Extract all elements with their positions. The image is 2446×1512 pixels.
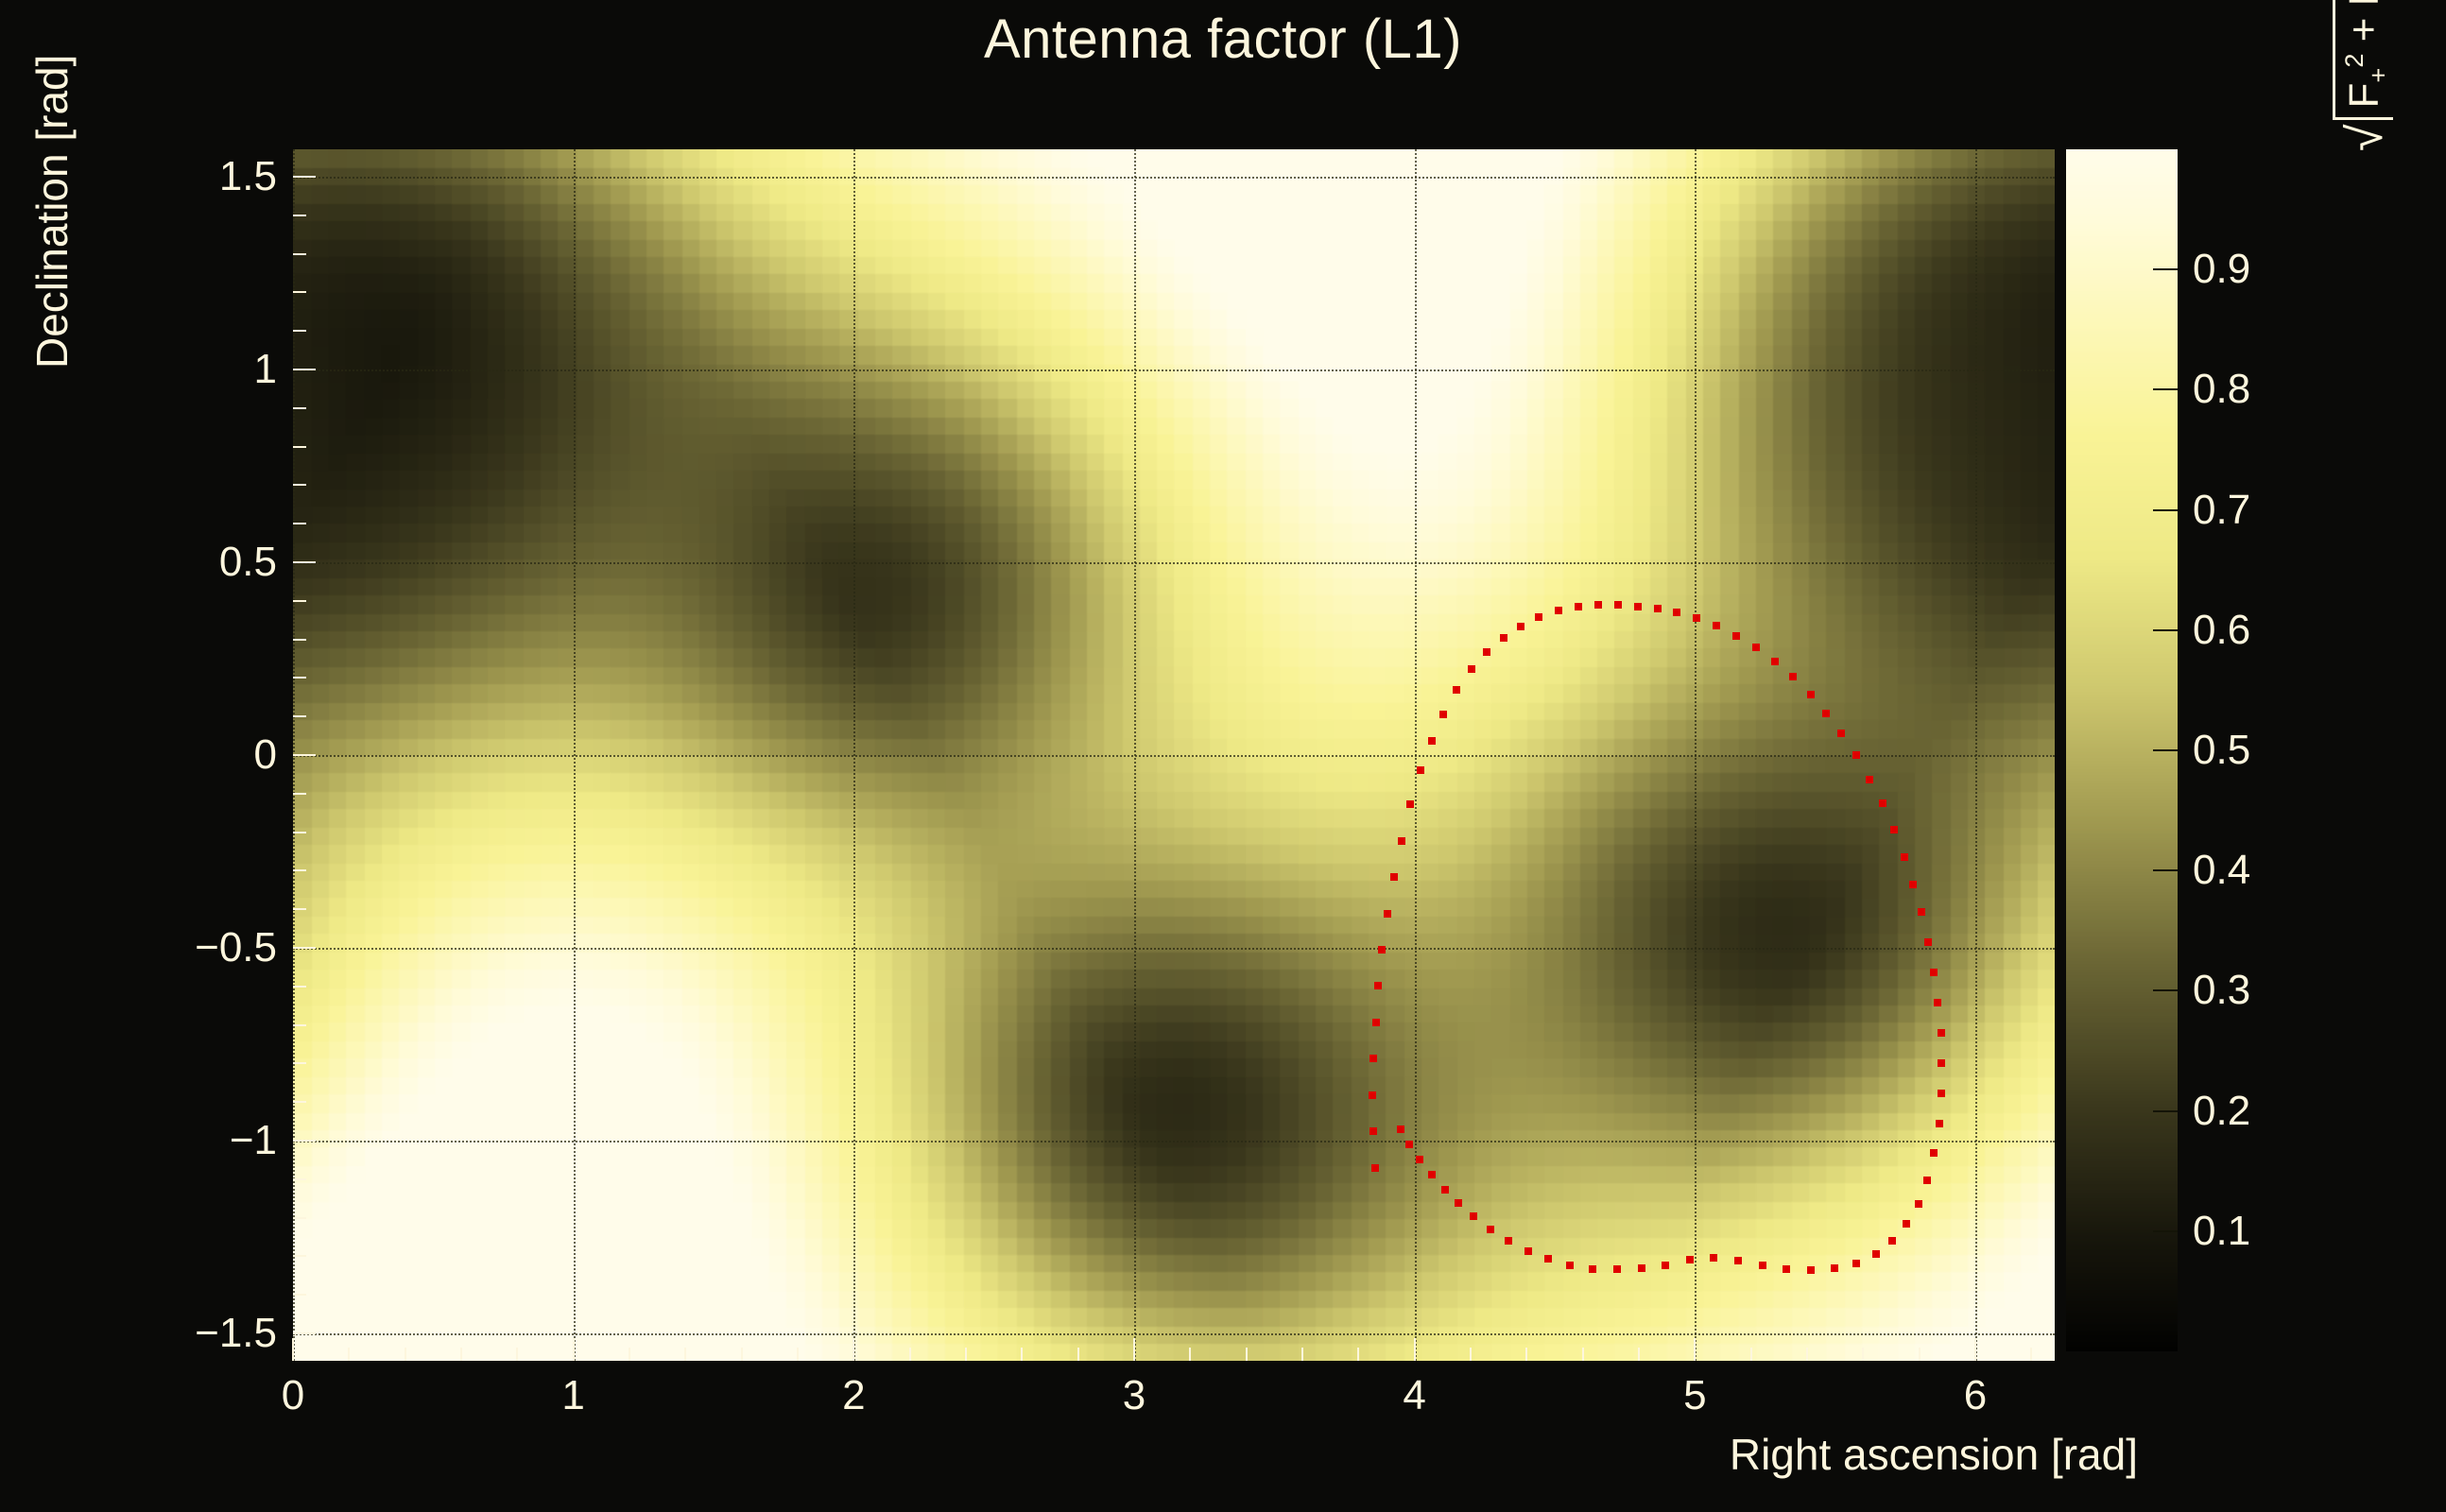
x-axis-minor-tick <box>1077 1348 1079 1361</box>
colorbar-tick <box>2153 268 2178 270</box>
x-axis-minor-tick <box>1470 1348 1472 1361</box>
colorbar-tick <box>2153 509 2178 511</box>
y-axis-minor-tick <box>293 600 306 602</box>
x-axis-tick <box>292 1338 294 1361</box>
x-axis-title: Right ascension [rad] <box>1730 1429 2138 1480</box>
y-axis-minor-tick <box>293 407 306 409</box>
colorbar-tick-label: 0.1 <box>2193 1208 2250 1255</box>
x-axis-minor-tick <box>405 1348 406 1361</box>
x-axis-tick-label: 5 <box>1683 1372 1706 1419</box>
y-axis-minor-tick <box>293 215 306 216</box>
colorbar-title: √F+2 + F×2 <box>2333 151 2389 586</box>
x-axis-minor-tick <box>1525 1348 1527 1361</box>
x-axis-minor-tick <box>348 1348 350 1361</box>
colorbar-tick-label: 0.8 <box>2193 366 2250 413</box>
x-axis-tick-label: 2 <box>842 1372 865 1419</box>
y-axis-minor-tick <box>293 793 306 795</box>
x-axis-tick <box>1133 1338 1135 1361</box>
y-axis-tick <box>293 561 316 563</box>
colorbar-tick <box>2153 989 2178 991</box>
colorbar-tick <box>2153 749 2178 751</box>
colorbar-tick <box>2153 629 2178 631</box>
x-axis-minor-tick <box>1301 1348 1303 1361</box>
x-axis-minor-tick <box>1189 1348 1191 1361</box>
x-axis-minor-tick <box>516 1348 518 1361</box>
x-axis-minor-tick <box>460 1348 462 1361</box>
y-axis-tick-label: 1.5 <box>219 153 277 200</box>
x-axis-minor-tick <box>909 1348 911 1361</box>
y-axis-tick <box>293 369 316 370</box>
y-axis-minor-tick <box>293 869 306 871</box>
x-axis-minor-tick <box>1357 1348 1359 1361</box>
x-axis-minor-tick <box>1919 1348 1921 1361</box>
x-axis-tick-label: 4 <box>1403 1372 1425 1419</box>
y-axis-minor-tick <box>293 523 306 524</box>
x-axis-minor-tick <box>1638 1348 1640 1361</box>
x-axis-minor-tick <box>2030 1348 2032 1361</box>
x-axis-tick-label: 0 <box>282 1372 304 1419</box>
x-axis-tick <box>853 1338 854 1361</box>
y-axis-minor-tick <box>293 1101 306 1103</box>
y-axis-tick-label: −0.5 <box>195 924 277 971</box>
y-axis-minor-tick <box>293 1255 306 1257</box>
x-axis-minor-tick <box>1021 1348 1023 1361</box>
y-axis-tick-label: −1 <box>230 1117 277 1164</box>
heatmap-plot-area <box>293 149 2055 1361</box>
x-axis-minor-tick <box>1582 1348 1584 1361</box>
colorbar-tick <box>2153 1110 2178 1112</box>
y-axis-tick <box>293 1332 316 1334</box>
y-axis-minor-tick <box>293 330 306 332</box>
y-axis-tick <box>293 754 316 756</box>
x-axis-minor-tick <box>1806 1348 1808 1361</box>
x-axis-minor-tick <box>1862 1348 1864 1361</box>
y-axis-title-text: Declination [rad] <box>26 55 78 369</box>
y-axis-minor-tick <box>293 715 306 717</box>
x-axis-minor-tick <box>684 1348 686 1361</box>
colorbar-tick <box>2153 388 2178 390</box>
x-axis-tick-label: 6 <box>1964 1372 1987 1419</box>
colorbar-tick-label: 0.7 <box>2193 487 2250 534</box>
colorbar-tick-label: 0.2 <box>2193 1088 2250 1135</box>
y-axis-tick <box>293 176 316 178</box>
colorbar-tick-label: 0.5 <box>2193 727 2250 774</box>
y-axis-tick-label: 0.5 <box>219 539 277 586</box>
y-axis-minor-tick <box>293 446 306 448</box>
y-axis-tick <box>293 947 316 949</box>
y-axis-minor-tick <box>293 986 306 988</box>
colorbar-tick <box>2153 869 2178 871</box>
y-axis-minor-tick <box>293 908 306 910</box>
x-axis-minor-tick <box>965 1348 967 1361</box>
y-axis-tick-label: 1 <box>254 346 277 393</box>
x-axis-tick-label: 3 <box>1123 1372 1145 1419</box>
colorbar-title-text: √F+2 + F×2 <box>2333 0 2393 151</box>
x-axis-tick <box>1694 1338 1696 1361</box>
x-axis-minor-tick <box>629 1348 630 1361</box>
colorbar-formula: F+2 + F×2 <box>2333 0 2393 120</box>
colorbar-tick-label: 0.4 <box>2193 847 2250 894</box>
x-axis-tick <box>1414 1338 1416 1361</box>
y-axis-minor-tick <box>293 1294 306 1296</box>
colorbar-tick-label: 0.6 <box>2193 607 2250 654</box>
y-axis-minor-tick <box>293 291 306 293</box>
y-axis-minor-tick <box>293 832 306 833</box>
y-axis-tick-label: 0 <box>254 731 277 779</box>
x-axis-minor-tick <box>797 1348 799 1361</box>
x-axis-tick-label: 1 <box>561 1372 584 1419</box>
y-axis-minor-tick <box>293 1062 306 1064</box>
y-axis-minor-tick <box>293 1217 306 1219</box>
y-axis-minor-tick <box>293 1178 306 1180</box>
x-axis-minor-tick <box>1750 1348 1752 1361</box>
x-axis-minor-tick <box>1246 1348 1248 1361</box>
x-axis-tick <box>1974 1338 1976 1361</box>
y-axis-minor-tick <box>293 1024 306 1026</box>
y-axis-minor-tick <box>293 253 306 255</box>
y-axis-minor-tick <box>293 677 306 679</box>
heatmap-canvas <box>293 149 2055 1361</box>
x-axis-tick <box>573 1338 575 1361</box>
colorbar-tick <box>2153 1230 2178 1232</box>
radical-icon: √ <box>2341 124 2390 151</box>
page-title: Antenna factor (L1) <box>0 8 2446 71</box>
y-axis-minor-tick <box>293 639 306 641</box>
colorbar-tick-label: 0.9 <box>2193 246 2250 293</box>
colorbar-tick-label: 0.3 <box>2193 967 2250 1014</box>
y-axis-minor-tick <box>293 484 306 486</box>
chart-root: Antenna factor (L1) 0123456 1.510.50−0.5… <box>0 0 2446 1512</box>
x-axis-minor-tick <box>741 1348 743 1361</box>
y-axis-tick-label: −1.5 <box>195 1310 277 1357</box>
y-axis-tick <box>293 1140 316 1142</box>
